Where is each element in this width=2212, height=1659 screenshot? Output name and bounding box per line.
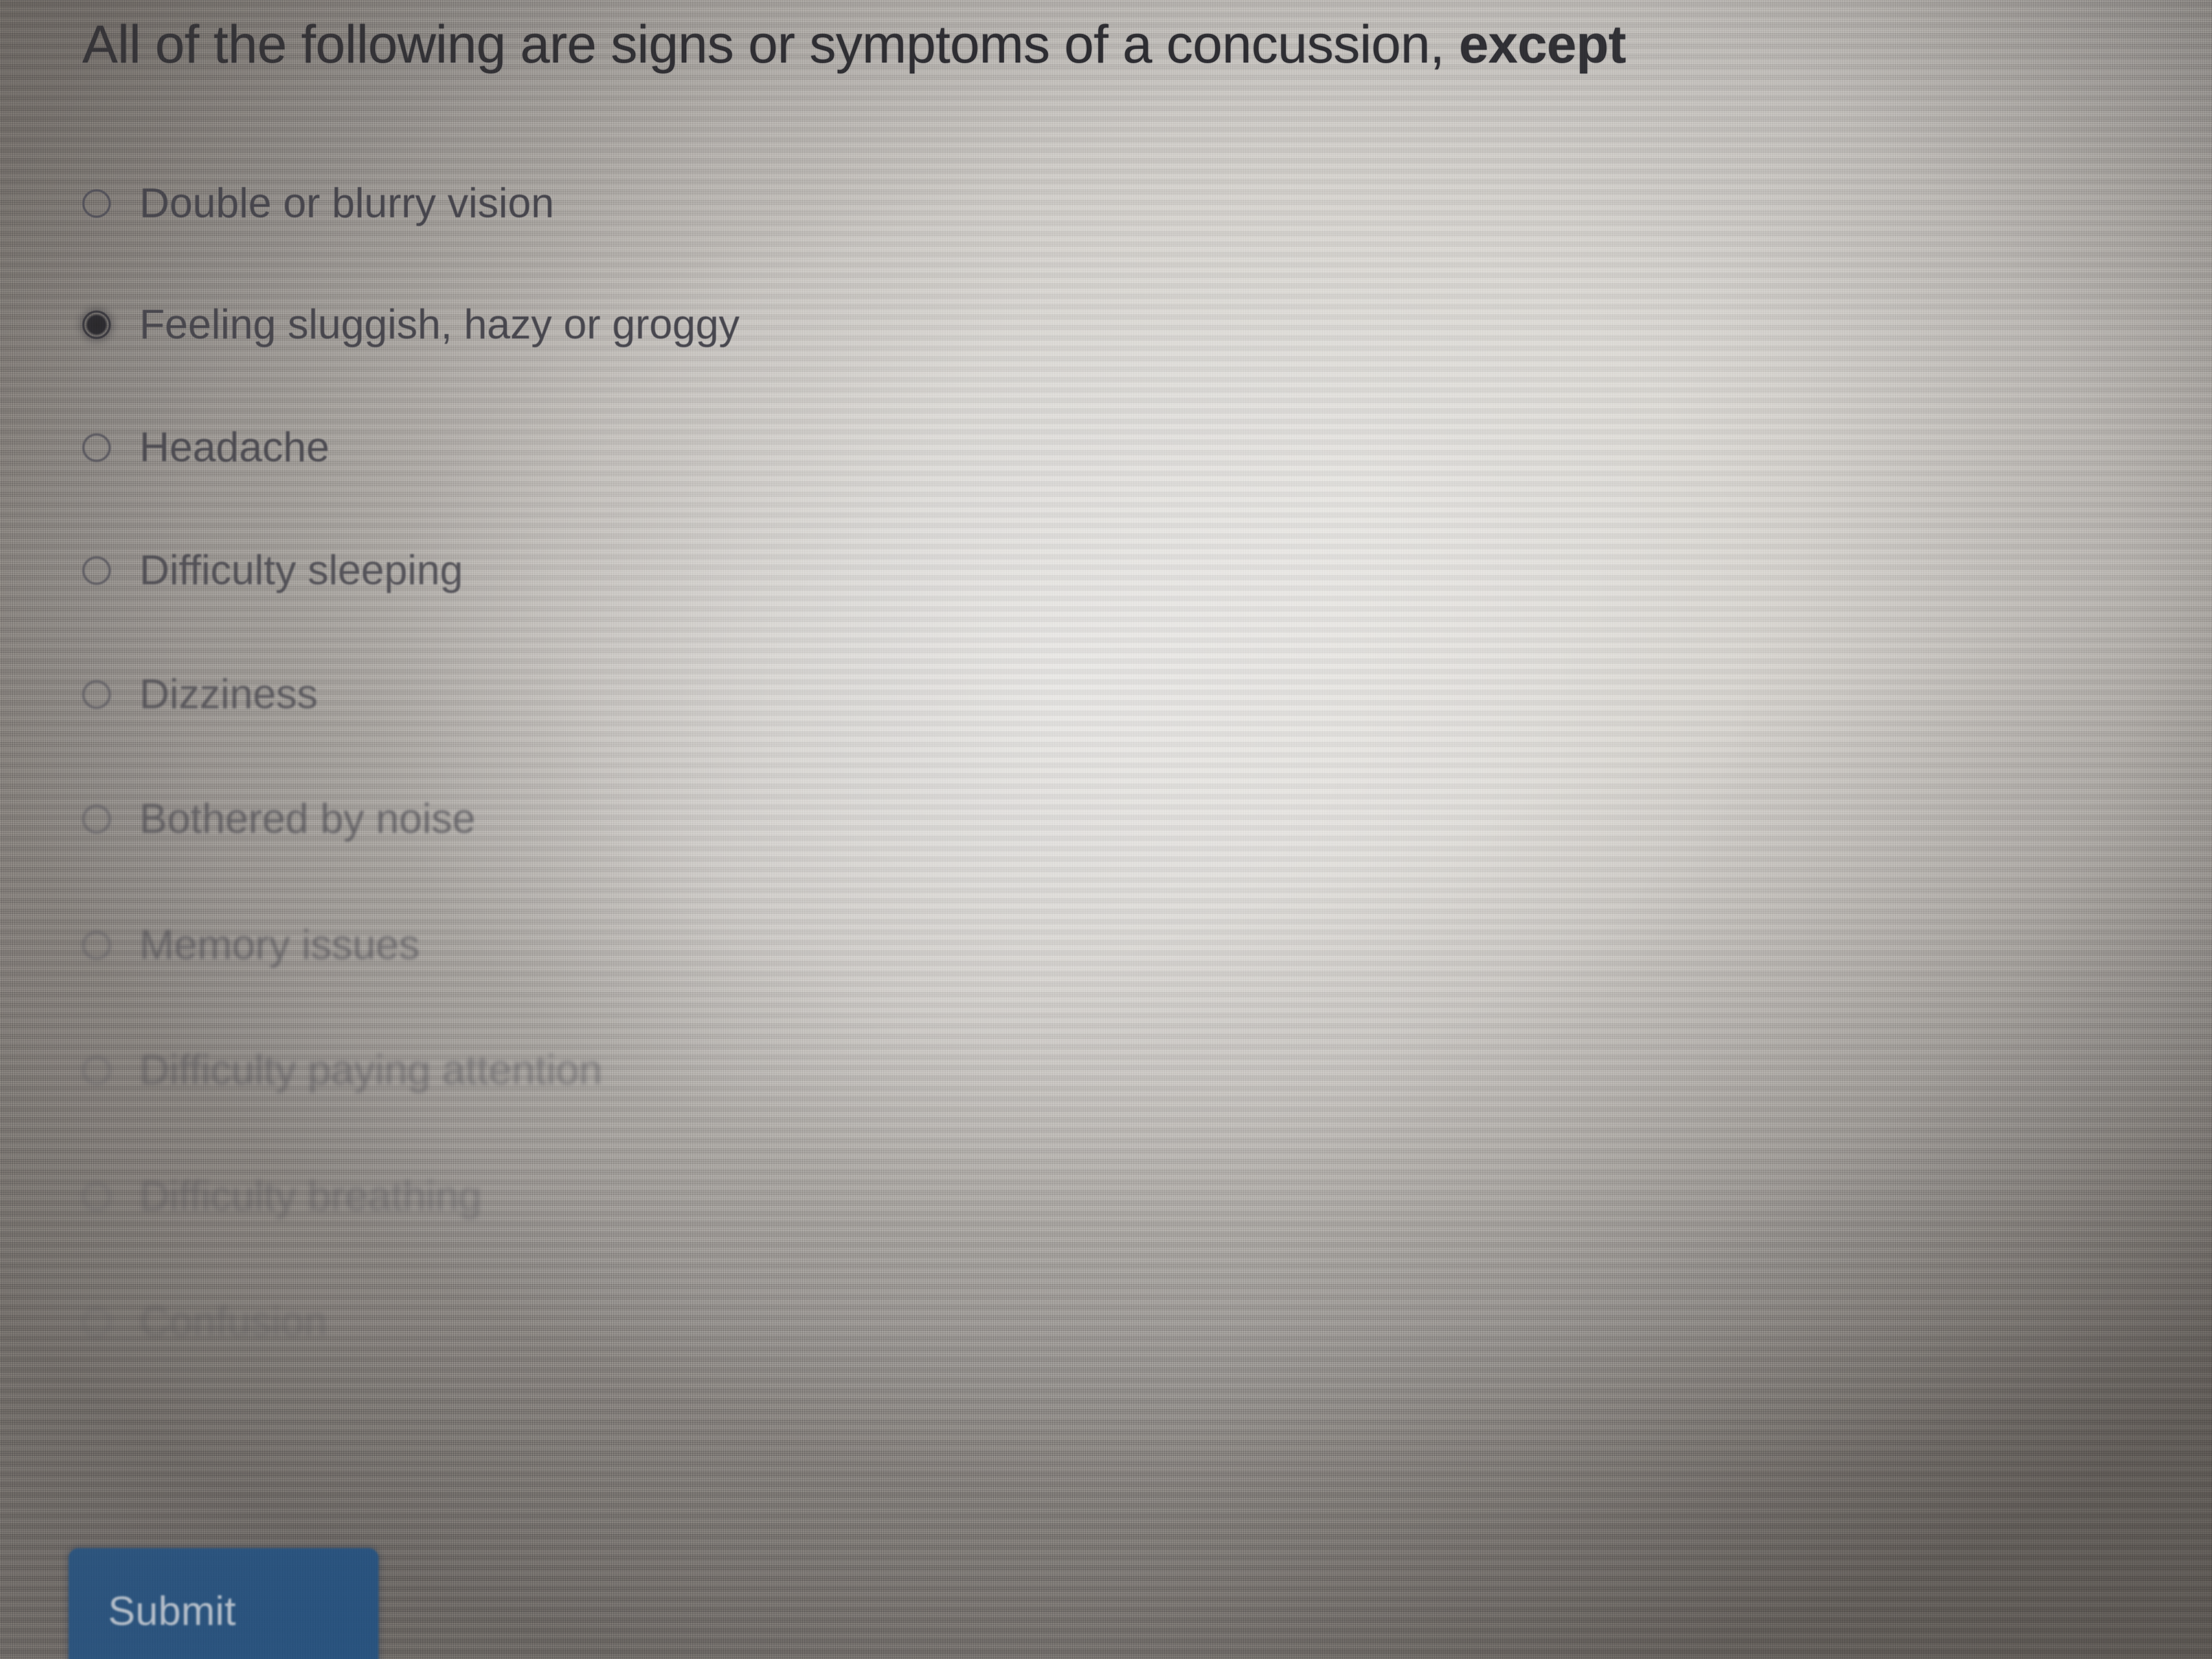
radio-button-unselected[interactable] xyxy=(82,433,111,462)
option-row-2[interactable]: Feeling sluggish, hazy or groggy xyxy=(82,304,740,346)
radio-button-unselected[interactable] xyxy=(82,1182,111,1211)
option-row-3[interactable]: Headache xyxy=(82,427,330,469)
option-label: Difficulty paying attention xyxy=(139,1049,602,1091)
radio-button-unselected[interactable] xyxy=(82,189,111,218)
radio-button-selected[interactable] xyxy=(82,311,111,339)
radio-button-unselected[interactable] xyxy=(82,805,111,833)
radio-button-unselected[interactable] xyxy=(82,1308,111,1336)
submit-button[interactable]: Submit xyxy=(69,1548,379,1659)
option-row-9[interactable]: Difficulty breathing xyxy=(82,1176,482,1217)
option-row-8[interactable]: Difficulty paying attention xyxy=(82,1049,602,1091)
option-row-7[interactable]: Memory issues xyxy=(82,924,420,966)
radio-button-unselected[interactable] xyxy=(82,1056,111,1085)
option-label: Bothered by noise xyxy=(139,798,476,840)
question-text-plain: All of the following are signs or sympto… xyxy=(82,14,1459,74)
option-row-4[interactable]: Difficulty sleeping xyxy=(82,550,463,591)
radio-button-unselected[interactable] xyxy=(82,931,111,960)
radio-button-unselected[interactable] xyxy=(82,556,111,585)
option-label: Confusion xyxy=(139,1301,327,1343)
option-label: Headache xyxy=(139,427,330,469)
option-label: Feeling sluggish, hazy or groggy xyxy=(139,304,740,346)
option-row-1[interactable]: Double or blurry vision xyxy=(82,183,554,224)
option-label: Dizziness xyxy=(139,674,318,715)
radio-button-unselected[interactable] xyxy=(82,680,111,709)
option-label: Memory issues xyxy=(139,924,420,966)
quiz-content: All of the following are signs or sympto… xyxy=(0,0,2212,1659)
question-text-emphasis: except xyxy=(1459,14,1626,74)
option-row-10[interactable]: Confusion xyxy=(82,1301,327,1343)
option-label: Difficulty sleeping xyxy=(139,550,463,591)
photographed-screen: All of the following are signs or sympto… xyxy=(0,0,2212,1659)
submit-button-label: Submit xyxy=(108,1591,236,1632)
option-label: Double or blurry vision xyxy=(139,183,554,224)
option-label: Difficulty breathing xyxy=(139,1176,482,1217)
question-title: All of the following are signs or sympto… xyxy=(82,16,2002,72)
option-row-5[interactable]: Dizziness xyxy=(82,674,318,715)
option-row-6[interactable]: Bothered by noise xyxy=(82,798,476,840)
